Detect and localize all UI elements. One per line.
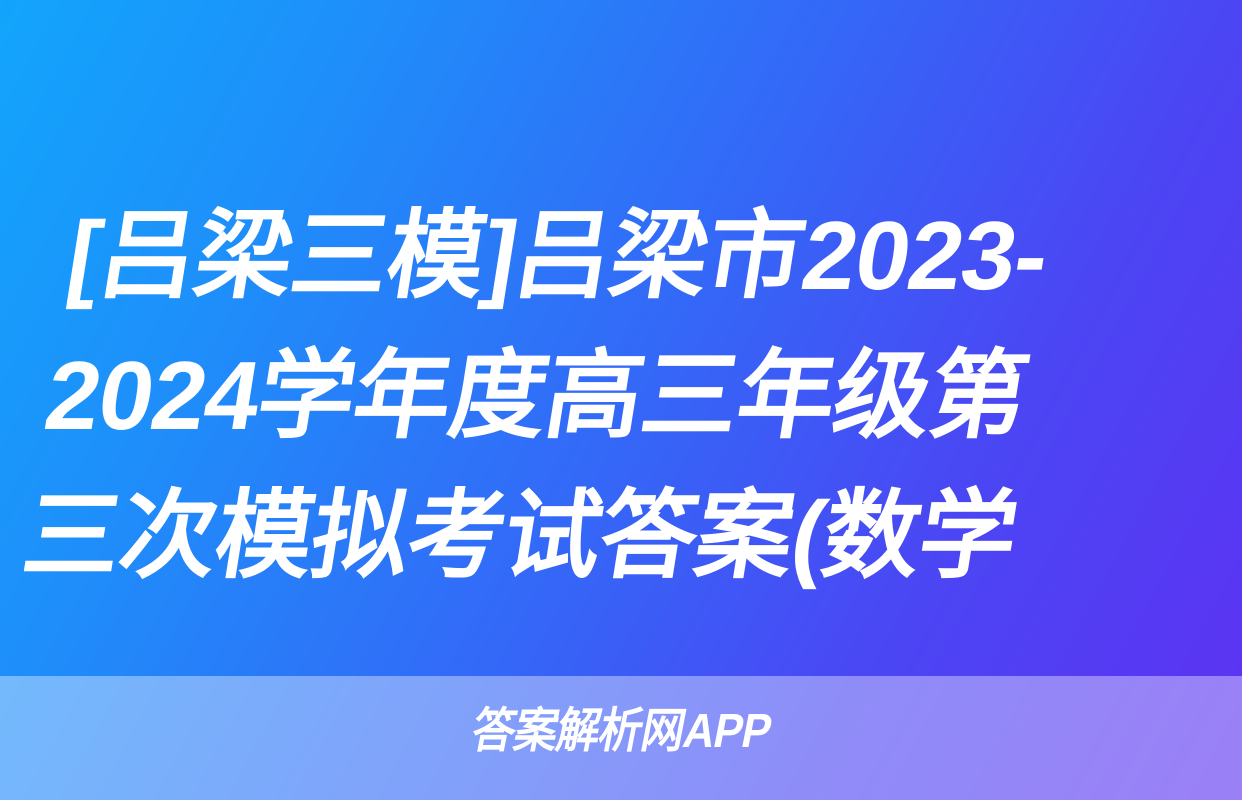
headline-line-2: 2024学年度高三年级第 (36, 326, 1148, 466)
headline-line-1: [吕梁三模]吕梁市2023- (58, 186, 1170, 326)
brand-watermark-text: 答案解析网APP (466, 702, 775, 762)
headline-title: [吕梁三模]吕梁市2023- 2024学年度高三年级第 三次模拟考试答案(数学 (13, 186, 1170, 606)
poster-canvas: [吕梁三模]吕梁市2023- 2024学年度高三年级第 三次模拟考试答案(数学 … (0, 0, 1242, 800)
brand-watermark: 答案解析网APP (0, 702, 1242, 762)
headline-line-3: 三次模拟考试答案(数学 (13, 466, 1125, 606)
